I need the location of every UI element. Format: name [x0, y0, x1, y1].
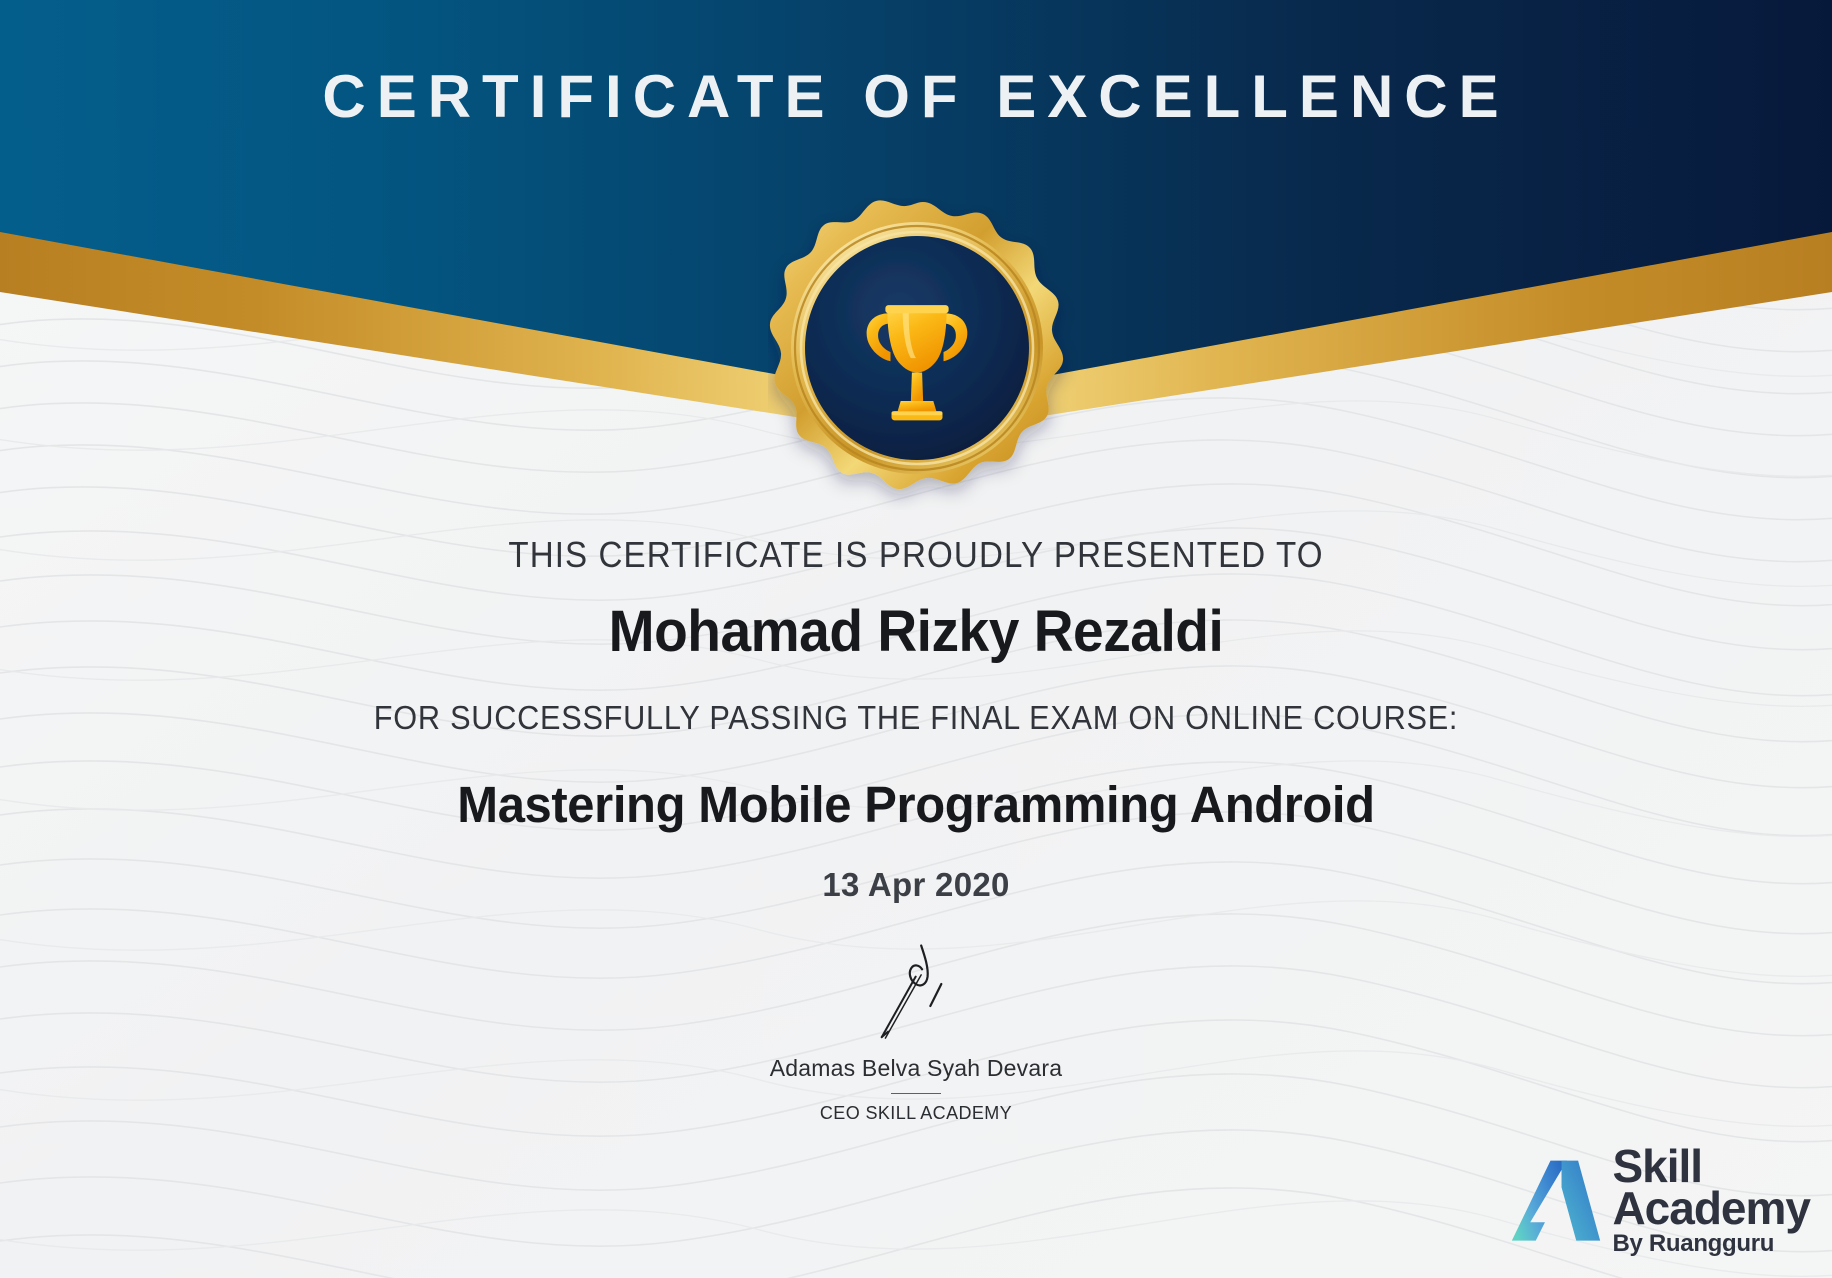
- course-name: Mastering Mobile Programming Android: [37, 775, 1796, 834]
- page-title: CERTIFICATE OF EXCELLENCE: [0, 62, 1832, 131]
- logo-line-by: By Ruangguru: [1612, 1232, 1810, 1256]
- handwritten-signature-icon: [824, 940, 1007, 1050]
- recipient-name: Mohamad Rizky Rezaldi: [46, 598, 1786, 665]
- excellence-seal: [768, 198, 1078, 510]
- presented-to-label: THIS CERTIFICATE IS PROUDLY PRESENTED TO: [73, 534, 1758, 576]
- logo-wordmark: Skill Academy By Ruangguru: [1612, 1143, 1810, 1260]
- skill-academy-a-mark-icon: [1510, 1156, 1602, 1248]
- exam-statement: FOR SUCCESSFULLY PASSING THE FINAL EXAM …: [64, 699, 1768, 737]
- signer-role: CEO SKILL ACADEMY: [0, 1103, 1832, 1124]
- skill-academy-logo: Skill Academy By Ruangguru: [1510, 1143, 1810, 1260]
- signature-divider: [891, 1093, 941, 1094]
- signature-block: Adamas Belva Syah Devara CEO SKILL ACADE…: [0, 940, 1832, 1124]
- logo-line-academy: Academy: [1612, 1185, 1810, 1231]
- issue-date: 13 Apr 2020: [0, 866, 1832, 904]
- certificate-canvas: CERTIFICATE OF EXCELLENCE: [0, 0, 1832, 1278]
- certificate-body: THIS CERTIFICATE IS PROUDLY PRESENTED TO…: [0, 520, 1832, 904]
- signer-name: Adamas Belva Syah Devara: [0, 1055, 1832, 1082]
